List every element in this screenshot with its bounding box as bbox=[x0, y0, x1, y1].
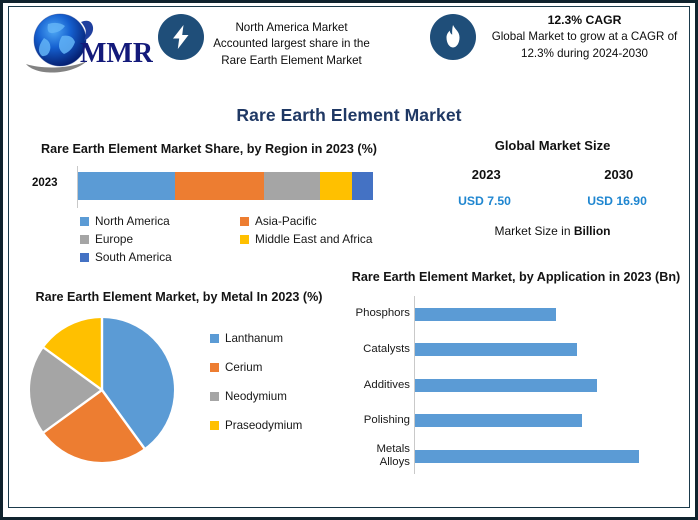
global-market-size-values: USD 7.50 USD 16.90 bbox=[420, 194, 685, 208]
header-item-text: North America Market Accounted largest s… bbox=[210, 20, 373, 69]
legend-swatch-icon bbox=[210, 363, 219, 372]
chart-title-region: Rare Earth Element Market Share, by Regi… bbox=[14, 140, 404, 158]
cagr-heading: 12.3% CAGR bbox=[482, 12, 687, 29]
legend-label: North America bbox=[95, 214, 170, 228]
globe-swoosh-logo: MMR bbox=[18, 10, 153, 80]
footnote-unit: Billion bbox=[574, 224, 611, 238]
cagr-body: Global Market to grow at a CAGR of 12.3%… bbox=[492, 30, 678, 59]
global-market-size-block: Global Market Size 2023 2030 USD 7.50 US… bbox=[420, 138, 685, 258]
legend-item: Cerium bbox=[210, 353, 340, 382]
pie-separator bbox=[44, 348, 102, 390]
legend-label: Neodymium bbox=[225, 390, 287, 403]
legend-swatch-icon bbox=[210, 334, 219, 343]
legend-swatch-icon bbox=[210, 392, 219, 401]
stacked-bar-series bbox=[78, 172, 373, 200]
chart-application: Rare Earth Element Market, by Applicatio… bbox=[346, 268, 686, 506]
legend-label: Middle East and Africa bbox=[255, 232, 372, 246]
header: MMR North America Market Accounted large… bbox=[10, 8, 688, 90]
header-item-body: North America Market Accounted largest s… bbox=[213, 21, 370, 67]
category-label: Phosphors bbox=[346, 307, 414, 320]
category-label: MetalsAlloys bbox=[346, 443, 414, 470]
legend-item: Lanthanum bbox=[210, 324, 340, 353]
application-bar-row: MetalsAlloys bbox=[346, 439, 686, 475]
bar bbox=[415, 308, 556, 321]
category-label: Additives bbox=[346, 379, 414, 392]
bar bbox=[415, 450, 639, 463]
legend-swatch-icon bbox=[80, 253, 89, 262]
legend-label: South America bbox=[95, 250, 172, 264]
bar bbox=[415, 343, 577, 356]
stacked-segment bbox=[320, 172, 352, 200]
global-market-size-years: 2023 2030 bbox=[420, 167, 685, 182]
year-2023-label: 2023 bbox=[472, 167, 501, 182]
year-2030-label: 2030 bbox=[604, 167, 633, 182]
pie-separator bbox=[44, 390, 102, 432]
global-market-size-title: Global Market Size bbox=[420, 138, 685, 153]
legend-item: North America bbox=[80, 212, 240, 230]
legend-swatch-icon bbox=[240, 217, 249, 226]
stacked-segment bbox=[352, 172, 373, 200]
legend-item: Neodymium bbox=[210, 382, 340, 411]
stacked-segment bbox=[175, 172, 264, 200]
application-bar-row: Phosphors bbox=[346, 296, 686, 332]
lightning-bolt-glyph bbox=[169, 24, 193, 50]
header-item-north-america: North America Market Accounted largest s… bbox=[158, 8, 373, 88]
application-bar-row: Additives bbox=[346, 367, 686, 403]
chart-title-application: Rare Earth Element Market, by Applicatio… bbox=[346, 268, 686, 286]
lightning-bolt-icon bbox=[158, 14, 204, 60]
value-2030: USD 16.90 bbox=[587, 194, 647, 208]
chart-title-metal: Rare Earth Element Market, by Metal In 2… bbox=[14, 288, 344, 306]
flame-glyph bbox=[442, 24, 464, 50]
legend-label: Praseodymium bbox=[225, 419, 302, 432]
header-item-cagr: 12.3% CAGR Global Market to grow at a CA… bbox=[430, 8, 690, 88]
logo-wordmark: MMR bbox=[80, 38, 153, 69]
application-bar-plot: PhosphorsCatalystsAdditivesPolishingMeta… bbox=[346, 296, 686, 474]
bar bbox=[415, 379, 597, 392]
legend-item: Asia-Pacific bbox=[240, 212, 400, 230]
chart-legend-metal: LanthanumCeriumNeodymiumPraseodymium bbox=[210, 324, 340, 440]
value-2023: USD 7.50 bbox=[458, 194, 511, 208]
legend-label: Cerium bbox=[225, 361, 262, 374]
chart-metal-share: Rare Earth Element Market, by Metal In 2… bbox=[14, 288, 344, 506]
legend-item: Praseodymium bbox=[210, 411, 340, 440]
infographic-root: MMR North America Market Accounted large… bbox=[0, 0, 698, 520]
legend-label: Asia-Pacific bbox=[255, 214, 317, 228]
axis-tick-2023: 2023 bbox=[32, 177, 58, 189]
chart-region-share: Rare Earth Element Market Share, by Regi… bbox=[14, 140, 404, 285]
legend-swatch-icon bbox=[80, 235, 89, 244]
bar bbox=[415, 414, 582, 427]
pie-plot: LanthanumCeriumNeodymiumPraseodymium bbox=[14, 310, 344, 485]
stacked-bar-plot: 2023 bbox=[14, 166, 404, 206]
legend-swatch-icon bbox=[240, 235, 249, 244]
global-market-size-footnote: Market Size in Billion bbox=[420, 224, 685, 238]
flame-icon bbox=[430, 14, 476, 60]
legend-label: Lanthanum bbox=[225, 332, 283, 345]
legend-swatch-icon bbox=[80, 217, 89, 226]
application-bar-row: Catalysts bbox=[346, 332, 686, 368]
category-label: Catalysts bbox=[346, 343, 414, 356]
chart-legend-region: North AmericaAsia-PacificEuropeMiddle Ea… bbox=[80, 212, 400, 266]
page-title: Rare Earth Element Market bbox=[0, 105, 698, 126]
stacked-segment bbox=[264, 172, 320, 200]
footnote-prefix: Market Size in bbox=[494, 224, 573, 238]
header-item-text: 12.3% CAGR Global Market to grow at a CA… bbox=[482, 12, 687, 62]
legend-item: Middle East and Africa bbox=[240, 230, 400, 248]
application-bar-row: Polishing bbox=[346, 403, 686, 439]
pie-separator bbox=[102, 390, 144, 448]
legend-swatch-icon bbox=[210, 421, 219, 430]
category-label: Polishing bbox=[346, 414, 414, 427]
legend-label: Europe bbox=[95, 232, 133, 246]
mmr-logo: MMR bbox=[18, 10, 153, 80]
stacked-segment bbox=[78, 172, 175, 200]
legend-item: Europe bbox=[80, 230, 240, 248]
legend-item: South America bbox=[80, 248, 240, 266]
pie-slice-separators bbox=[30, 318, 174, 462]
